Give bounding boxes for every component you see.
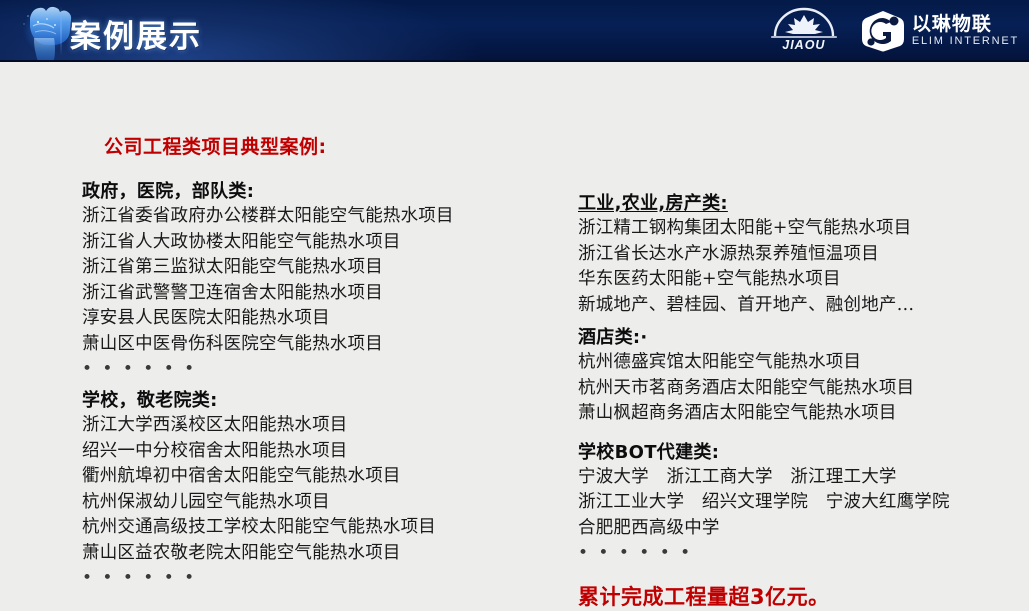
list-item: 杭州德盛宾馆太阳能空气能热水项目	[578, 350, 1018, 376]
group-heading: 政府，医院，部队类:	[82, 180, 552, 204]
jiaou-logo: JIAOU	[765, 7, 843, 55]
list-item: 浙江省武警警卫连宿舍太阳能热水项目	[82, 281, 552, 307]
slide-header: 案例展示 JIAOU 以琳物联 ELIM INTERNET	[0, 0, 1029, 62]
summary-footnote: 累计完成工程量超3亿元。	[578, 581, 830, 611]
list-item: 新城地产、碧桂园、首开地产、融创地产…	[578, 293, 1018, 319]
ellipsis-marker: • • • • • •	[578, 541, 1018, 565]
ellipsis-marker: • • • • • •	[82, 566, 552, 590]
jiaou-wordmark: JIAOU	[782, 38, 825, 52]
elim-g-logo-icon	[861, 10, 905, 52]
list-item: 合肥肥西高级中学	[578, 516, 1018, 542]
list-item: 浙江省第三监狱太阳能空气能热水项目	[82, 255, 552, 281]
list-item: 浙江工业大学 绍兴文理学院 宁波大红鹰学院	[578, 490, 1018, 516]
list-item: 浙江大学西溪校区太阳能热水项目	[82, 413, 552, 439]
list-item: 浙江精工钢构集团太阳能+空气能热水项目	[578, 216, 1018, 242]
right-column: 工业,农业,房产类: 浙江精工钢构集团太阳能+空气能热水项目 浙江省长达水产水源…	[578, 62, 1018, 565]
page-title: 案例展示	[70, 11, 202, 56]
list-item: 浙江省人大政协楼太阳能空气能热水项目	[82, 230, 552, 256]
slide-body: 公司工程类项目典型案例: 政府，医院，部队类: 浙江省委省政府办公楼群太阳能空气…	[0, 62, 1029, 579]
list-item: 绍兴一中分校宿舍太阳能热水项目	[82, 439, 552, 465]
list-item: 宁波大学 浙江工商大学 浙江理工大学	[578, 465, 1018, 491]
ellipsis-marker: • • • • • •	[82, 357, 552, 381]
list-item: 华东医药太阳能+空气能热水项目	[578, 267, 1018, 293]
list-item: 衢州航埠初中宿舍太阳能空气能热水项目	[82, 464, 552, 490]
left-column: 政府，医院，部队类: 浙江省委省政府办公楼群太阳能空气能热水项目 浙江省人大政协…	[82, 62, 552, 590]
group-government: 政府，医院，部队类: 浙江省委省政府办公楼群太阳能空气能热水项目 浙江省人大政协…	[82, 180, 552, 381]
group-hotels: 酒店类:· 杭州德盛宾馆太阳能空气能热水项目 杭州天市茗商务酒店太阳能空气能热水…	[578, 326, 1018, 427]
list-item: 萧山区益农敬老院太阳能空气能热水项目	[82, 541, 552, 567]
group-school-bot: 学校BOT代建类: 宁波大学 浙江工商大学 浙江理工大学 浙江工业大学 绍兴文理…	[578, 441, 1018, 566]
elim-name-en: ELIM INTERNET	[912, 35, 1019, 48]
list-item: 浙江省委省政府办公楼群太阳能空气能热水项目	[82, 204, 552, 230]
list-item: 淳安县人民医院太阳能热水项目	[82, 306, 552, 332]
group-industry-agri-realestate: 工业,农业,房产类: 浙江精工钢构集团太阳能+空气能热水项目 浙江省长达水产水源…	[578, 192, 1018, 318]
jiaou-sun-arch-logo-icon	[765, 7, 843, 39]
group-heading: 学校BOT代建类:	[578, 441, 1018, 465]
group-heading: 工业,农业,房产类:	[578, 192, 1018, 216]
header-divider	[60, 6, 62, 56]
elim-logo: 以琳物联 ELIM INTERNET	[861, 8, 1019, 54]
list-item: 杭州交通高级技工学校太阳能空气能热水项目	[82, 515, 552, 541]
group-heading: 酒店类:·	[578, 326, 1018, 350]
list-item: 浙江省长达水产水源热泵养殖恒温项目	[578, 242, 1018, 268]
group-schools-nursing: 学校，敬老院类: 浙江大学西溪校区太阳能热水项目 绍兴一中分校宿舍太阳能热水项目…	[82, 389, 552, 590]
group-heading: 学校，敬老院类:	[82, 389, 552, 413]
fist-icon	[14, 0, 76, 62]
list-item: 杭州保淑幼儿园空气能热水项目	[82, 490, 552, 516]
elim-name-cn: 以琳物联	[912, 14, 1019, 35]
list-item: 萧山区中医骨伤科医院空气能热水项目	[82, 332, 552, 358]
header-logos: JIAOU 以琳物联 ELIM INTERNET	[765, 4, 1019, 58]
list-item: 杭州天市茗商务酒店太阳能空气能热水项目	[578, 376, 1018, 402]
list-item: 萧山枫超商务酒店太阳能空气能热水项目	[578, 401, 1018, 427]
